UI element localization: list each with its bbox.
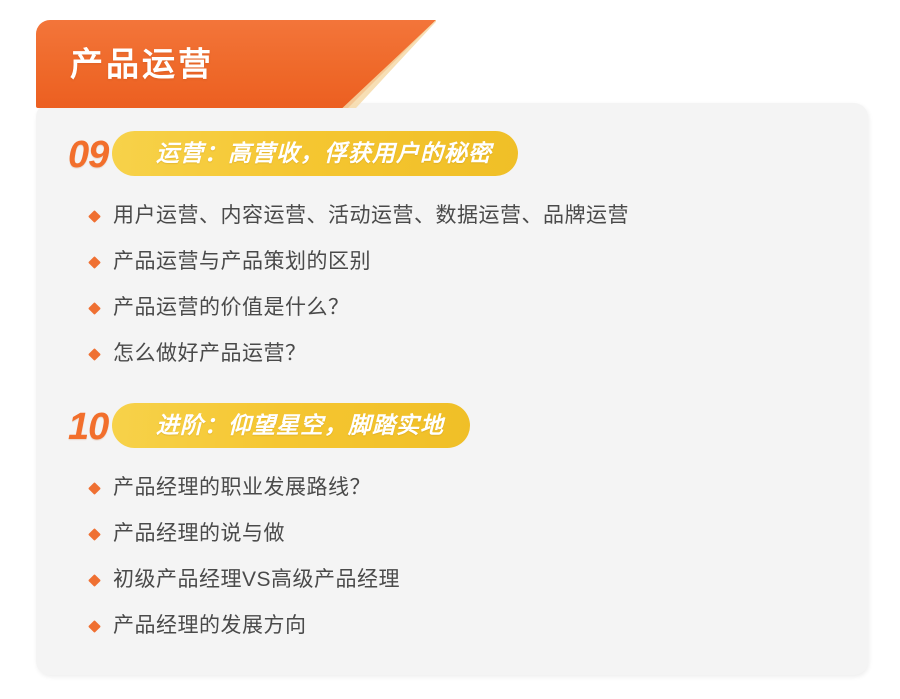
list-item-label: 产品运营的价值是什么？ [113, 295, 350, 320]
list-item-label: 初级产品经理VS高级产品经理 [113, 567, 400, 592]
section-10-header: 10 进阶：仰望星空，脚踏实地 [68, 403, 868, 451]
page-header-banner: 产品运营 [36, 20, 436, 108]
diamond-bullet-icon [88, 528, 101, 541]
section-10: 10 进阶：仰望星空，脚踏实地 产品经理的职业发展路线？ 产品经理的说与做 初级… [36, 403, 868, 649]
list-item-label: 怎么做好产品运营？ [113, 341, 307, 366]
list-item-label: 产品经理的发展方向 [113, 613, 307, 638]
diamond-bullet-icon [88, 210, 101, 223]
list-item: 产品经理的说与做 [36, 511, 868, 557]
section-09-list: 用户运营、内容运营、活动运营、数据运营、品牌运营 产品运营与产品策划的区别 产品… [36, 193, 868, 377]
list-item-label: 产品经理的说与做 [113, 521, 285, 546]
section-09-title: 运营：高营收，俘获用户的秘密 [156, 142, 492, 165]
list-item: 用户运营、内容运营、活动运营、数据运营、品牌运营 [36, 193, 868, 239]
section-10-title: 进阶：仰望星空，脚踏实地 [156, 414, 444, 437]
section-10-title-pill: 进阶：仰望星空，脚踏实地 [112, 403, 470, 448]
diamond-bullet-icon [88, 482, 101, 495]
section-10-number-badge: 10 [68, 408, 108, 446]
page-root: 09 运营：高营收，俘获用户的秘密 用户运营、内容运营、活动运营、数据运营、品牌… [0, 0, 900, 699]
diamond-bullet-icon [88, 256, 101, 269]
content-card: 09 运营：高营收，俘获用户的秘密 用户运营、内容运营、活动运营、数据运营、品牌… [36, 103, 868, 675]
section-09-title-pill: 运营：高营收，俘获用户的秘密 [112, 131, 518, 176]
list-item: 初级产品经理VS高级产品经理 [36, 557, 868, 603]
page-title: 产品运营 [70, 48, 214, 81]
list-item-label: 用户运营、内容运营、活动运营、数据运营、品牌运营 [113, 203, 629, 228]
list-item: 产品经理的职业发展路线？ [36, 465, 868, 511]
section-09: 09 运营：高营收，俘获用户的秘密 用户运营、内容运营、活动运营、数据运营、品牌… [36, 131, 868, 377]
section-09-header: 09 运营：高营收，俘获用户的秘密 [68, 131, 868, 179]
diamond-bullet-icon [88, 348, 101, 361]
section-09-number-badge: 09 [68, 136, 108, 174]
list-item: 产品运营与产品策划的区别 [36, 239, 868, 285]
diamond-bullet-icon [88, 302, 101, 315]
section-10-list: 产品经理的职业发展路线？ 产品经理的说与做 初级产品经理VS高级产品经理 产品经… [36, 465, 868, 649]
list-item-label: 产品经理的职业发展路线？ [113, 475, 371, 500]
diamond-bullet-icon [88, 574, 101, 587]
list-item: 怎么做好产品运营？ [36, 331, 868, 377]
list-item: 产品经理的发展方向 [36, 603, 868, 649]
list-item: 产品运营的价值是什么？ [36, 285, 868, 331]
list-item-label: 产品运营与产品策划的区别 [113, 249, 371, 274]
diamond-bullet-icon [88, 620, 101, 633]
